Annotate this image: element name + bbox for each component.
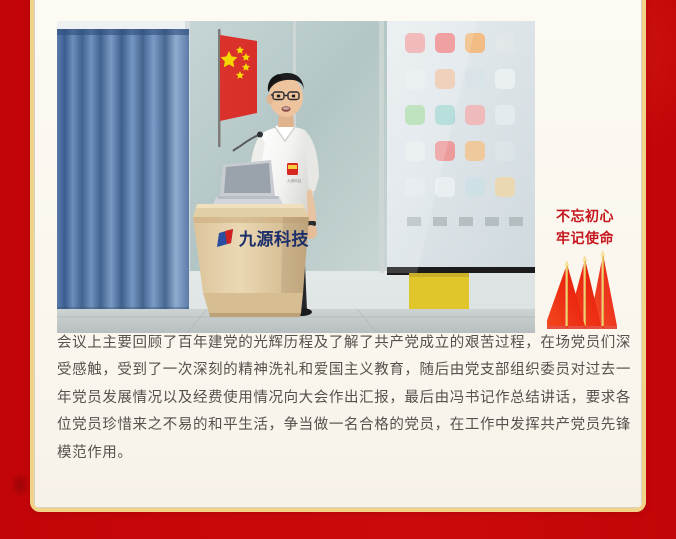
content-card-inner: 九源科技 [34,0,642,508]
red-blob-decoration [12,474,28,496]
slogan-text: 不忘初心 牢记使命 [547,206,623,250]
meeting-photo: 九源科技 [57,21,535,333]
slogan-badge: 不忘初心 牢记使命 [547,194,623,333]
slogan-line-2: 牢记使命 [547,228,623,250]
poster-page: 九源科技 [0,0,676,539]
content-card: 九源科技 [30,0,646,512]
meeting-summary-paragraph: 会议上主要回顾了百年建党的光辉历程及了解了共产党成立的艰苦过程，在场党员们深受感… [57,330,631,468]
three-flags-icon [547,248,623,333]
slogan-line-1: 不忘初心 [547,206,623,228]
svg-text:九源科技: 九源科技 [287,178,302,183]
svg-text:九源科技: 九源科技 [238,229,309,250]
